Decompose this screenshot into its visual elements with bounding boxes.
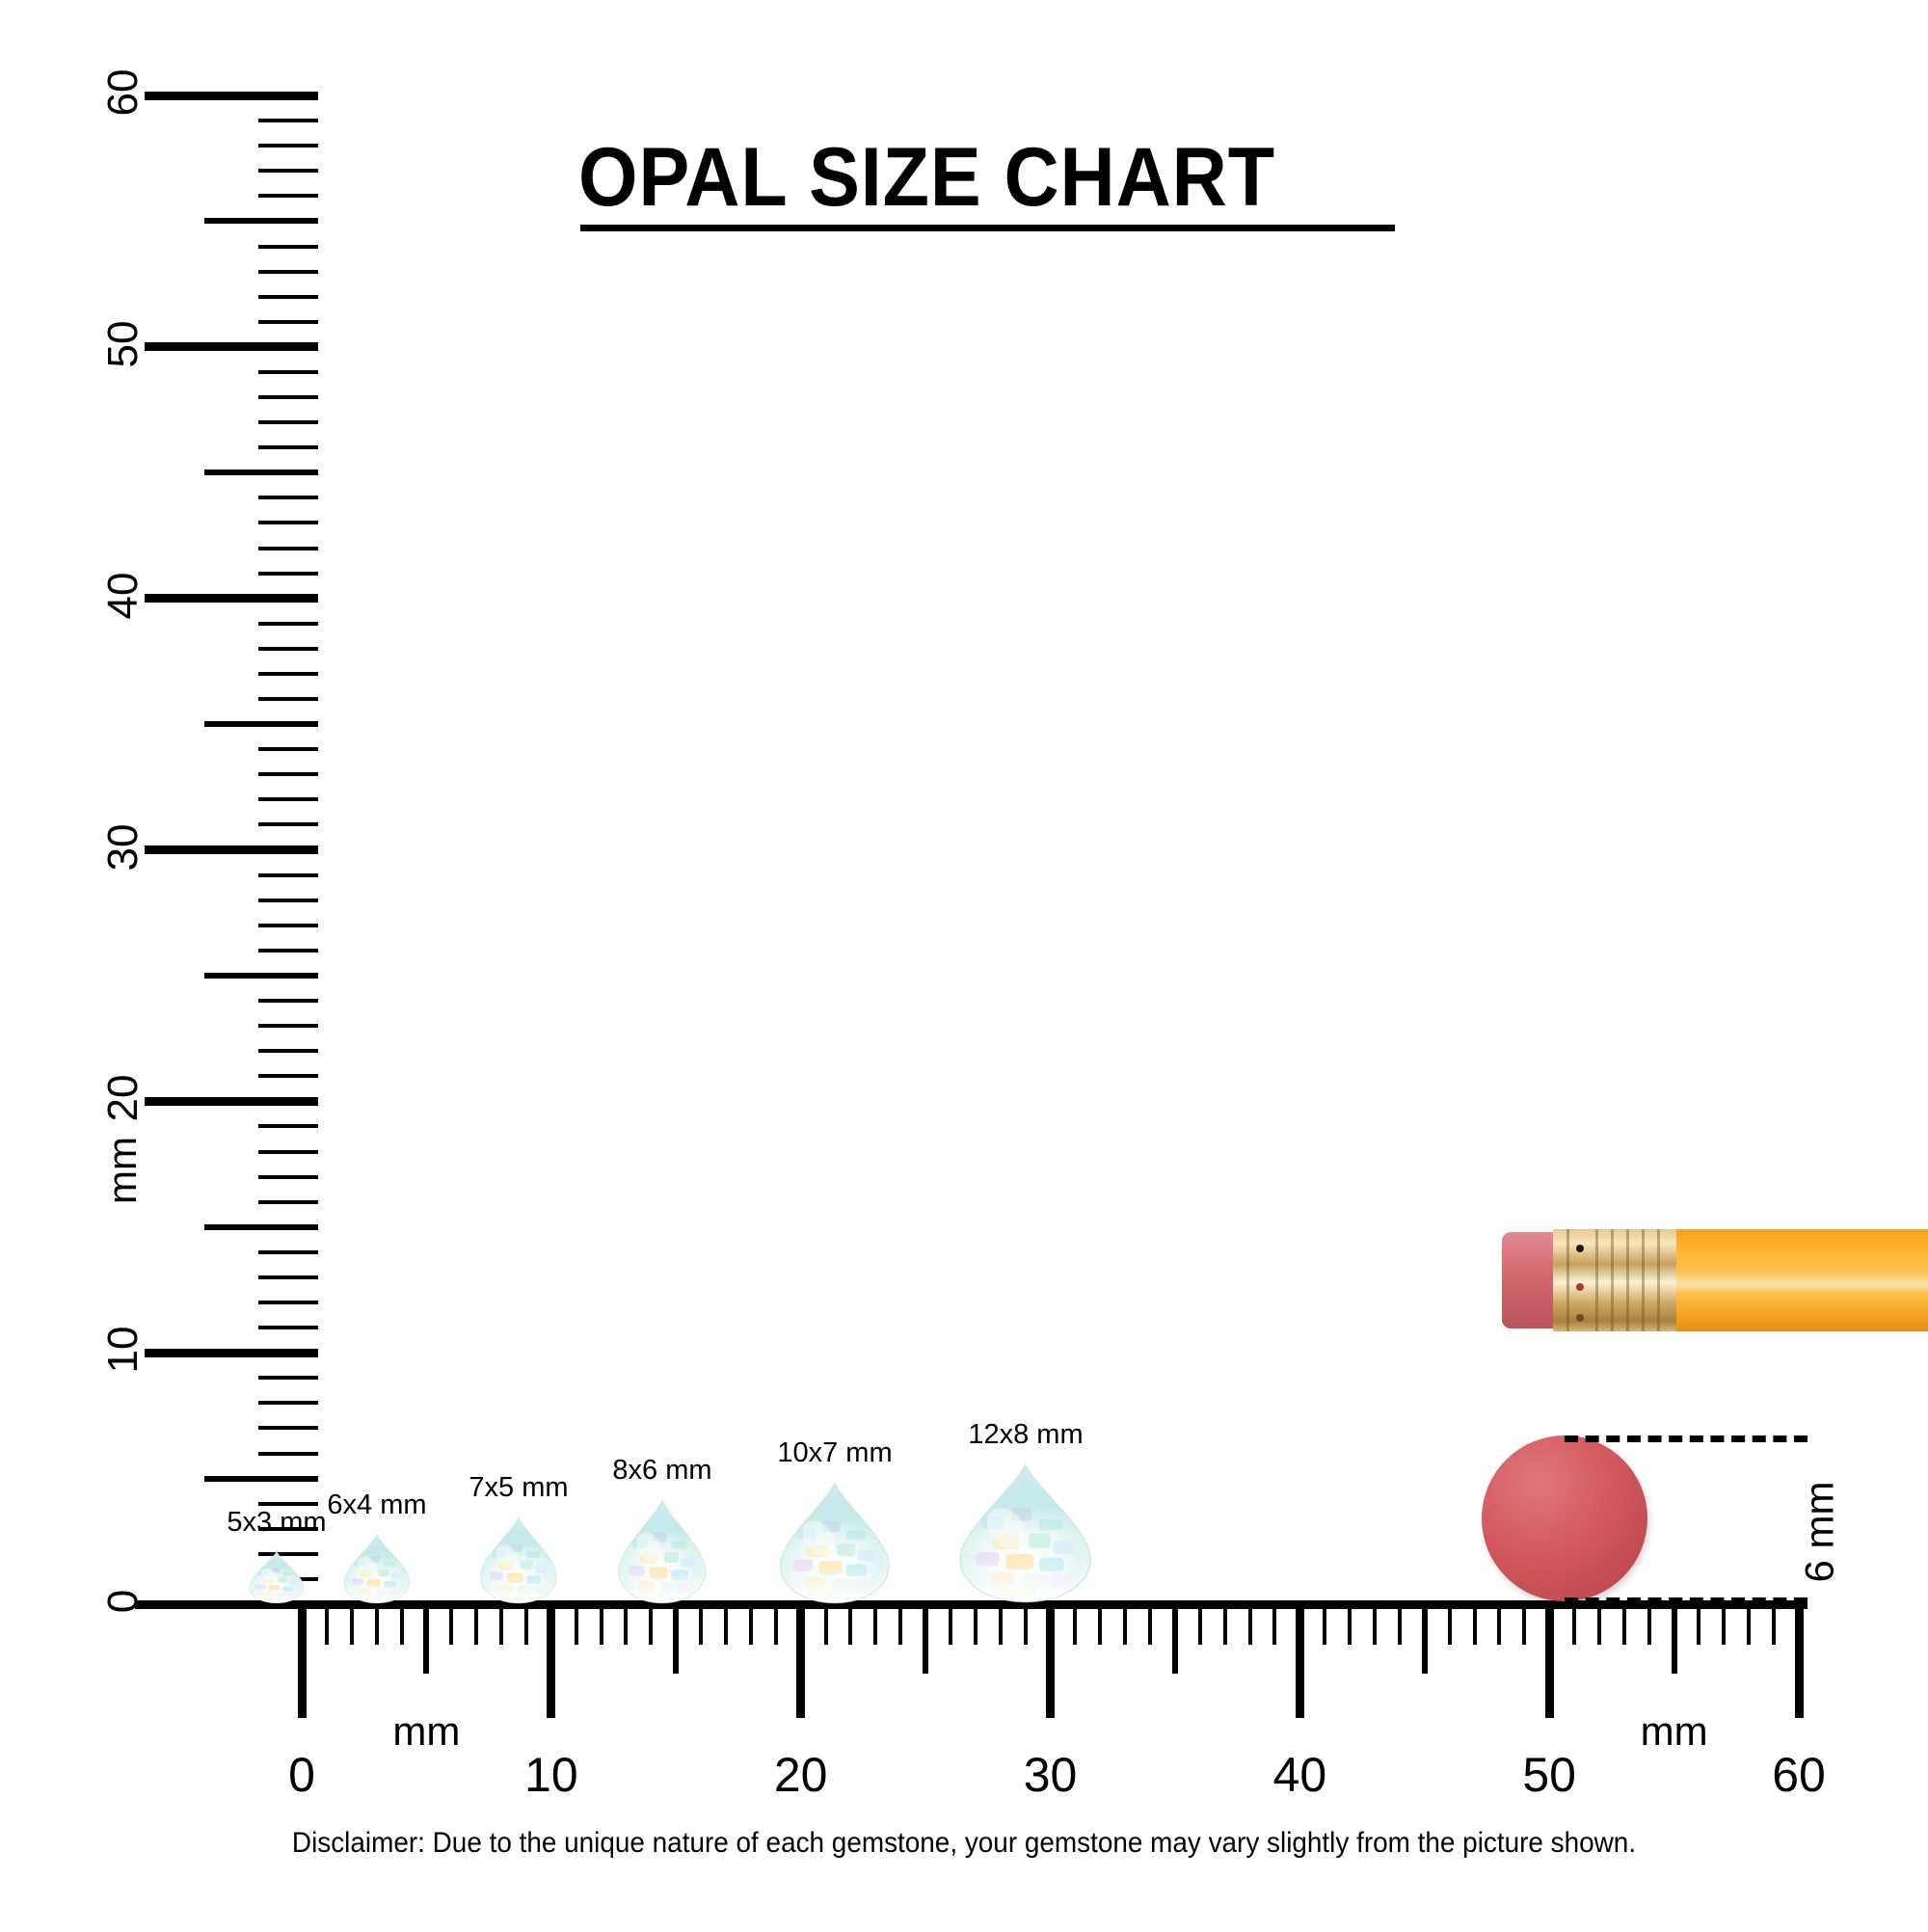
- eraser-size-label: 6 mm: [1797, 1482, 1843, 1583]
- eraser-top-dashed-line: [1565, 1436, 1807, 1442]
- gem-cabochon: [956, 1463, 1095, 1604]
- gem-size-label: 8x6 mm: [612, 1455, 711, 1487]
- opal-size-chart: OPAL SIZE CHART 6050403020100 mm 0102030…: [0, 0, 1928, 1928]
- eraser-disc-reference-object: [1482, 1436, 1647, 1601]
- gem-item: 5x3 mm: [248, 1551, 306, 1604]
- eraser-bottom-dashed-line: [1565, 1597, 1807, 1604]
- pencil-ferrule: [1553, 1229, 1678, 1331]
- gem-item: 6x4 mm: [342, 1534, 412, 1604]
- gem-item: 10x7 mm: [777, 1482, 893, 1604]
- gem-cabochon: [777, 1482, 893, 1604]
- gem-cabochon: [478, 1516, 559, 1604]
- gem-size-label: 10x7 mm: [777, 1437, 892, 1469]
- gem-shape: [777, 1482, 893, 1604]
- gem-shape: [248, 1551, 306, 1604]
- gem-size-label: 6x4 mm: [327, 1489, 426, 1521]
- gem-item: 8x6 mm: [616, 1499, 709, 1604]
- gem-cabochon: [248, 1551, 306, 1604]
- gem-shape: [478, 1516, 559, 1604]
- gem-shape: [616, 1499, 709, 1604]
- disclaimer-text: Disclaimer: Due to the unique nature of …: [292, 1827, 1636, 1860]
- pencil-eraser-tip: [1502, 1232, 1556, 1328]
- pencil-reference-object: [1502, 1226, 1928, 1334]
- gem-cabochon: [616, 1499, 709, 1604]
- gem-size-label: 12x8 mm: [968, 1419, 1083, 1451]
- gem-item: 7x5 mm: [478, 1516, 559, 1604]
- gem-item: 12x8 mm: [956, 1463, 1095, 1604]
- gem-row: 5x3 mm6x4 mm7x5 mm8x6 mm10x7 mm12x8 mm: [0, 0, 1928, 1928]
- gem-size-label: 5x3 mm: [227, 1507, 326, 1539]
- pencil-body: [1676, 1229, 1928, 1331]
- gem-size-label: 7x5 mm: [469, 1472, 568, 1504]
- gem-shape: [342, 1534, 412, 1604]
- gem-shape: [956, 1463, 1095, 1604]
- gem-cabochon: [342, 1534, 412, 1604]
